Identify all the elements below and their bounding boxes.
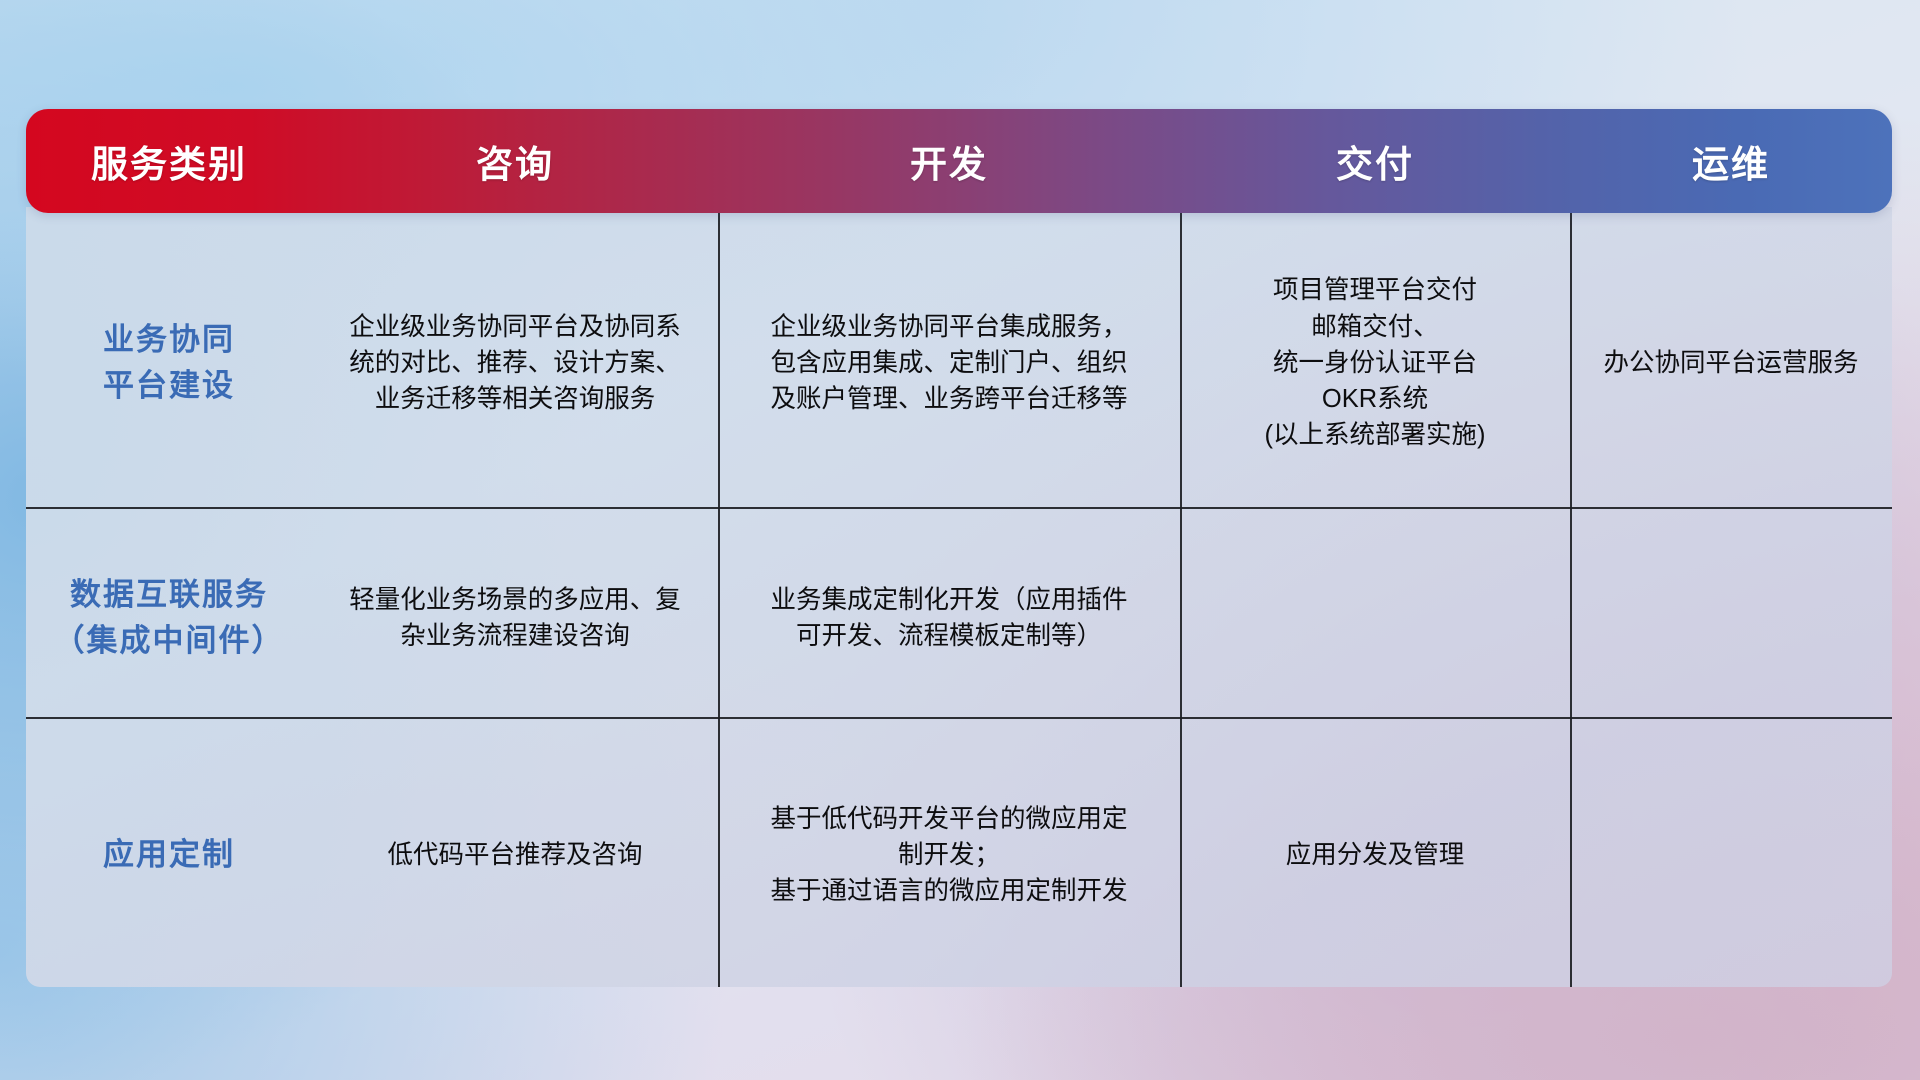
cell-row1-operations: 办公协同平台运营服务: [1570, 213, 1892, 513]
grid-line-horizontal-1: [26, 507, 1892, 509]
row-label-business-collaboration: 业务协同 平台建设: [26, 213, 312, 513]
table-row: 数据互联服务 （集成中间件） 轻量化业务场景的多应用、复 杂业务流程建设咨询 业…: [26, 513, 1892, 723]
column-header-operations: 运维: [1570, 109, 1892, 213]
cell-row3-development: 基于低代码开发平台的微应用定 制开发； 基于通过语言的微应用定制开发: [718, 723, 1180, 987]
cell-row3-delivery: 应用分发及管理: [1180, 723, 1570, 987]
cell-row2-delivery: [1180, 513, 1570, 723]
cell-row3-consulting: 低代码平台推荐及咨询: [312, 723, 718, 987]
row-label-app-customization: 应用定制: [26, 723, 312, 987]
service-category-table: 服务类别 咨询 开发 交付 运维 业务协同 平台建设 企业级业务协同平台及协同系…: [26, 109, 1892, 987]
table-row: 应用定制 低代码平台推荐及咨询 基于低代码开发平台的微应用定 制开发； 基于通过…: [26, 723, 1892, 987]
table-row: 业务协同 平台建设 企业级业务协同平台及协同系 统的对比、推荐、设计方案、 业务…: [26, 213, 1892, 513]
grid-line-horizontal-2: [26, 717, 1892, 719]
cell-row1-development: 企业级业务协同平台集成服务， 包含应用集成、定制门户、组织 及账户管理、业务跨平…: [718, 213, 1180, 513]
column-header-category: 服务类别: [26, 109, 312, 213]
row-label-data-interconnect: 数据互联服务 （集成中间件）: [26, 513, 312, 723]
cell-row2-consulting: 轻量化业务场景的多应用、复 杂业务流程建设咨询: [312, 513, 718, 723]
column-header-consulting: 咨询: [312, 109, 718, 213]
cell-row2-operations: [1570, 513, 1892, 723]
cell-row3-operations: [1570, 723, 1892, 987]
column-header-development: 开发: [718, 109, 1180, 213]
table-header-row: 服务类别 咨询 开发 交付 运维: [26, 109, 1892, 213]
cell-row1-delivery: 项目管理平台交付 邮箱交付、 统一身份认证平台 OKR系统 (以上系统部署实施): [1180, 213, 1570, 513]
cell-row2-development: 业务集成定制化开发（应用插件 可开发、流程模板定制等）: [718, 513, 1180, 723]
column-header-delivery: 交付: [1180, 109, 1570, 213]
table-body: 业务协同 平台建设 企业级业务协同平台及协同系 统的对比、推荐、设计方案、 业务…: [26, 207, 1892, 987]
cell-row1-consulting: 企业级业务协同平台及协同系 统的对比、推荐、设计方案、 业务迁移等相关咨询服务: [312, 213, 718, 513]
